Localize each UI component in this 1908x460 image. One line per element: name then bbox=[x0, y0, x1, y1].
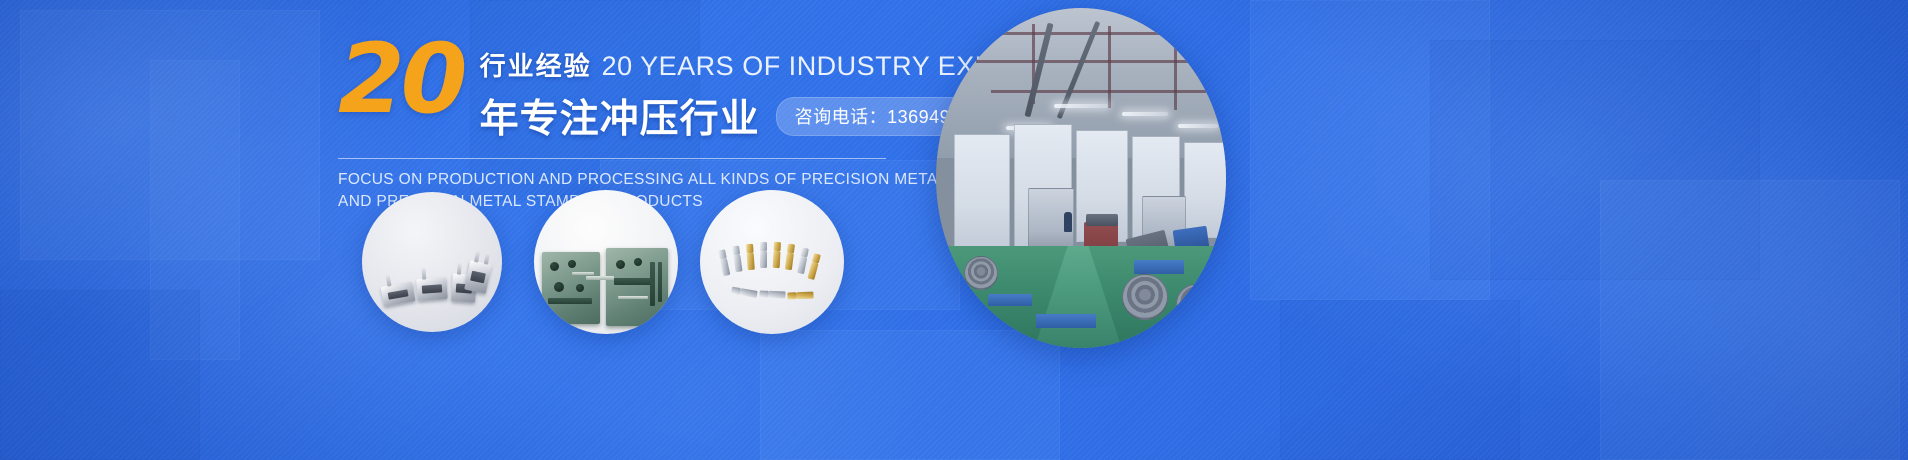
headline-divider bbox=[338, 158, 886, 159]
terminal-pin-9 bbox=[731, 287, 758, 298]
usb-shell-4 bbox=[464, 260, 492, 294]
product-circle-usb-connectors bbox=[362, 192, 502, 332]
cn-experience-label: 行业经验 bbox=[480, 46, 592, 83]
product-circle-stamping-mold bbox=[534, 190, 678, 334]
subtitle-line-1: FOCUS ON PRODUCTION AND PROCESSING ALL K… bbox=[338, 169, 898, 191]
cn-focus-label: 年专注冲压行业 bbox=[480, 88, 760, 144]
terminal-pin-3 bbox=[746, 244, 755, 270]
mold-half-right bbox=[606, 248, 668, 326]
terminal-pin-10 bbox=[759, 291, 785, 299]
factory-photo-tint bbox=[936, 8, 1226, 348]
mold-half-left bbox=[542, 252, 600, 324]
terminal-pin-4 bbox=[760, 242, 767, 268]
usb-shell-1 bbox=[381, 281, 416, 306]
headline-block: 20 行业经验 20 YEARS OF INDUSTRY EXPERIENCE … bbox=[338, 42, 898, 214]
terminal-pin-7 bbox=[797, 247, 809, 274]
headline-top-row: 20 行业经验 20 YEARS OF INDUSTRY EXPERIENCE … bbox=[338, 42, 898, 144]
factory-workshop-photo bbox=[936, 8, 1226, 348]
usb-shell-2 bbox=[416, 277, 447, 301]
terminal-pin-5 bbox=[773, 242, 781, 268]
company-hero-banner: 20 行业经验 20 YEARS OF INDUSTRY EXPERIENCE … bbox=[0, 0, 1908, 460]
terminal-pin-6 bbox=[785, 244, 795, 271]
mold-center-pin bbox=[586, 276, 614, 280]
terminal-pin-8 bbox=[807, 253, 820, 280]
product-circle-terminal-pins bbox=[700, 190, 844, 334]
terminal-pin-11 bbox=[787, 292, 813, 300]
years-number: 20 bbox=[338, 38, 464, 121]
terminal-pin-2 bbox=[732, 246, 743, 273]
terminal-pin-1 bbox=[718, 249, 730, 276]
